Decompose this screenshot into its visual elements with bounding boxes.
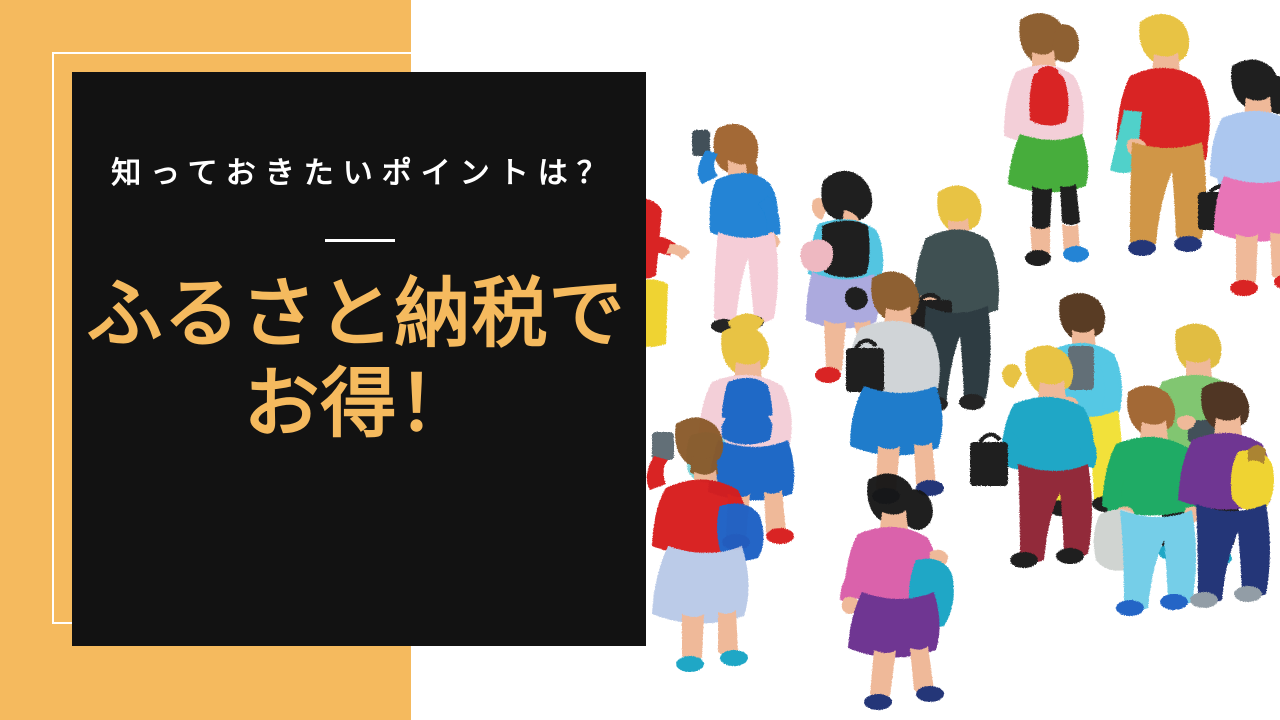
headline-line-2: お得！ — [72, 360, 646, 450]
headline-card: 知っておきたいポイントは？ ふるさと納税で お得！ — [72, 72, 646, 646]
figure-pink-green — [1004, 13, 1089, 266]
figure-pink-purple — [840, 473, 954, 710]
crowd-illustration — [620, 0, 1280, 720]
title-divider — [325, 239, 395, 242]
card-subtitle: 知っておきたいポイントは？ — [72, 156, 646, 192]
card-headline: ふるさと納税で お得！ — [72, 270, 646, 449]
headline-line-1: ふるさと納税で — [72, 270, 646, 360]
figure-red-tan — [1110, 14, 1210, 256]
figure-lightblue-pink — [1198, 59, 1280, 296]
poster-canvas: 知っておきたいポイントは？ ふるさと納税で お得！ — [0, 0, 1280, 720]
figure-blue-pink — [692, 124, 780, 333]
